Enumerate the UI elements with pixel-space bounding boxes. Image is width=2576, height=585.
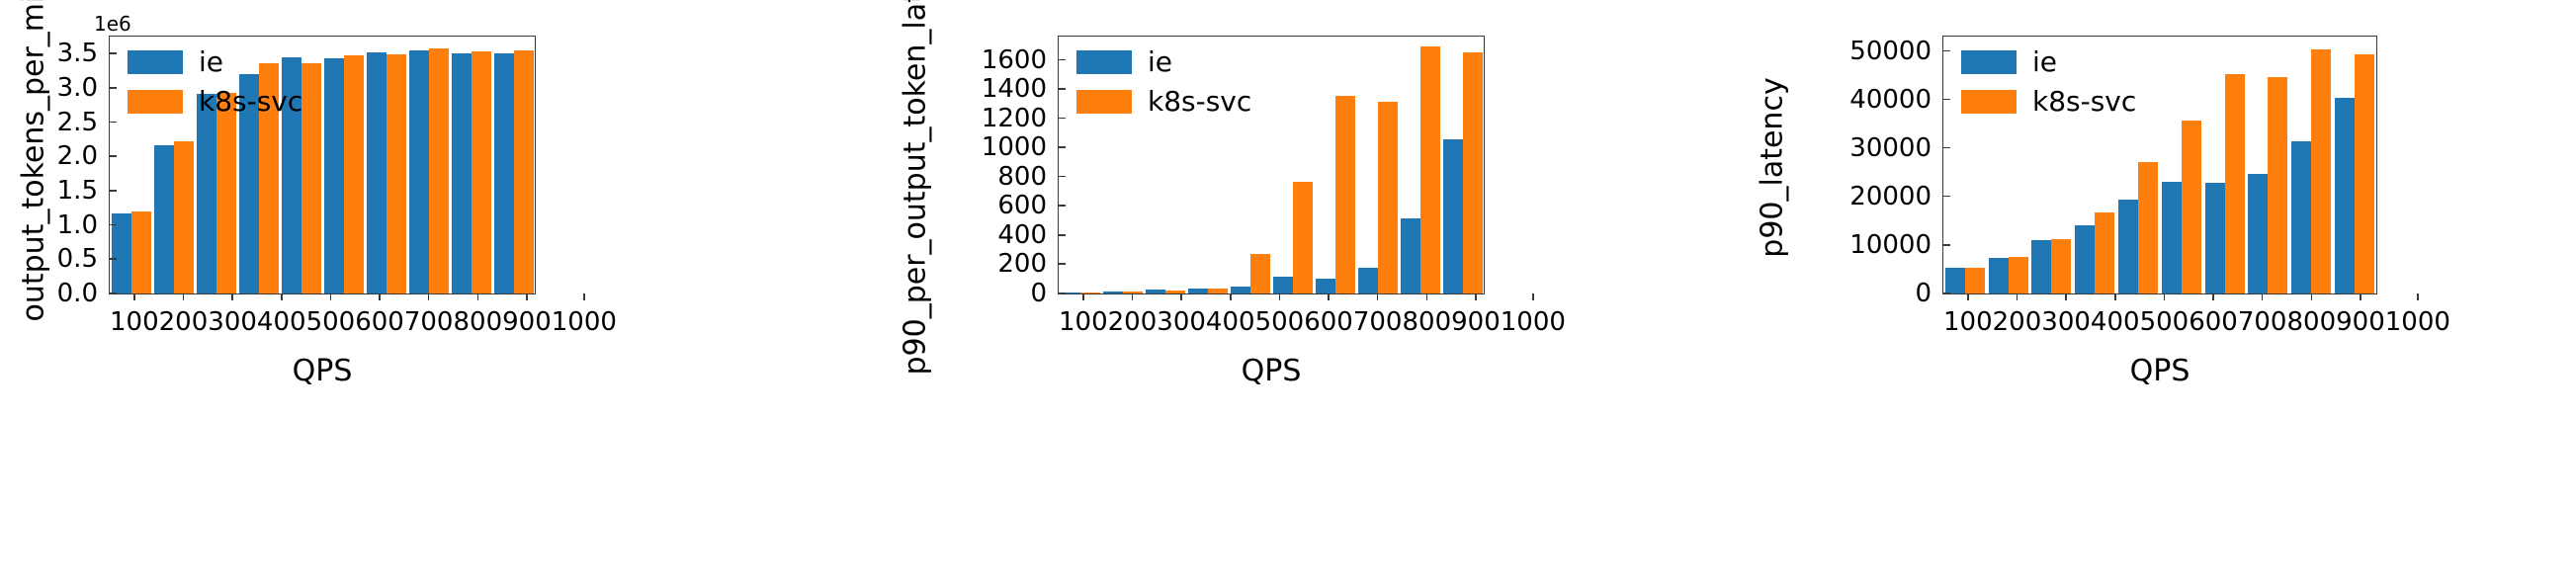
x-tick-label: 800: [1402, 293, 1451, 343]
bar-ie-500: [1231, 287, 1250, 293]
bar-group: [1314, 37, 1356, 293]
bar-k8s-svc-900: [2311, 49, 2331, 293]
y-tick-label: 0.0: [57, 281, 110, 306]
x-tick-mark: [183, 293, 185, 300]
bar-ie-800: [409, 50, 429, 293]
y-tick-mark: [110, 258, 117, 260]
legend-entry-ie: ie: [128, 48, 302, 76]
x-tick-label: 400: [1206, 293, 1255, 343]
y-tick-label: 3.5: [57, 41, 110, 66]
chart-panel-3: p90_latency 01000020000300004000050000 1…: [1700, 0, 2576, 585]
y-tick-label: 50000: [1849, 39, 1943, 64]
x-tick-mark: [1328, 293, 1330, 300]
y-tick-label: 1000: [982, 134, 1059, 160]
x-tick-label: 700: [1353, 293, 1403, 343]
y-tick-label: 1600: [982, 47, 1059, 73]
x-tick-label: 900: [2336, 293, 2385, 343]
x-ticks-2: 1002003004005006007008009001000: [1059, 293, 1484, 343]
bar-group: [2289, 37, 2333, 293]
bar-group: [492, 37, 535, 293]
legend-label-ie: ie: [2032, 48, 2057, 76]
y-tick-label: 1400: [982, 76, 1059, 102]
y-tick-mark: [1943, 244, 1950, 246]
x-tick-mark: [2164, 293, 2166, 300]
bar-k8s-svc-800: [1378, 102, 1398, 293]
bar-group: [2247, 37, 2290, 293]
x-tick-label: 100: [1059, 293, 1108, 343]
bar-k8s-svc-400: [2095, 212, 2114, 293]
y-tick-mark: [1059, 118, 1066, 120]
legend-entry-ie: ie: [1076, 48, 1251, 76]
x-tick-label: 600: [2189, 293, 2238, 343]
x-tick-label: 300: [2041, 293, 2091, 343]
bar-k8s-svc-500: [301, 63, 321, 293]
bar-group: [450, 37, 492, 293]
axes-1: 0.00.51.01.52.02.53.03.5 100200300400500…: [109, 36, 536, 294]
bar-k8s-svc-1000: [1463, 52, 1483, 293]
x-tick-label: 1000: [2385, 293, 2450, 343]
x-tick-label: 900: [1451, 293, 1501, 343]
x-tick-label: 500: [1255, 293, 1305, 343]
x-tick-mark: [1967, 293, 1969, 300]
legend-entry-k8s-svc: k8s-svc: [1961, 88, 2136, 116]
legend-label-k8s-svc: k8s-svc: [199, 88, 302, 116]
y-tick-label: 1.0: [57, 212, 110, 238]
x-tick-mark: [379, 293, 381, 300]
bar-ie-1000: [2335, 98, 2355, 293]
x-tick-mark: [2417, 293, 2419, 300]
bar-k8s-svc-600: [1293, 182, 1313, 293]
x-tick-mark: [2262, 293, 2264, 300]
x-tick-label: 400: [257, 293, 306, 343]
x-tick-label: 600: [355, 293, 404, 343]
y-tick-label: 200: [997, 251, 1059, 277]
x-tick-label: 800: [2286, 293, 2336, 343]
bar-k8s-svc-300: [2051, 239, 2071, 293]
x-tick-label: 500: [306, 293, 356, 343]
bar-ie-700: [2205, 183, 2225, 293]
bar-k8s-svc-900: [1420, 46, 1440, 293]
bar-k8s-svc-600: [2182, 121, 2201, 293]
y-axis-label-1: output_tokens_per_min: [17, 6, 51, 322]
bar-ie-600: [2162, 182, 2182, 293]
y-tick-mark: [110, 190, 117, 192]
x-tick-mark: [1279, 293, 1281, 300]
bar-k8s-svc-700: [1335, 96, 1355, 293]
x-tick-mark: [1532, 293, 1534, 300]
bar-group: [2160, 37, 2203, 293]
y-tick-mark: [1059, 234, 1066, 236]
y-tick-label: 30000: [1849, 135, 1943, 161]
y-tick-mark: [1059, 176, 1066, 178]
y-tick-mark: [1059, 59, 1066, 61]
legend-label-k8s-svc: k8s-svc: [2032, 88, 2136, 116]
bar-k8s-svc-800: [429, 48, 449, 293]
y-tick-mark: [1059, 88, 1066, 90]
x-tick-mark: [477, 293, 479, 300]
x-tick-mark: [1230, 293, 1232, 300]
bar-k8s-svc-500: [1250, 254, 1270, 293]
bar-ie-100: [1945, 268, 1965, 293]
bar-k8s-svc-100: [1965, 268, 1985, 293]
x-tick-label: 900: [502, 293, 552, 343]
x-tick-label: 300: [208, 293, 257, 343]
bar-group: [2203, 37, 2247, 293]
x-tick-label: 500: [2140, 293, 2190, 343]
bar-k8s-svc-700: [2225, 74, 2245, 293]
x-tick-label: 200: [159, 293, 209, 343]
bar-group: [2333, 37, 2376, 293]
y-tick-label: 2.5: [57, 110, 110, 135]
x-tick-mark: [1377, 293, 1379, 300]
bar-ie-700: [367, 52, 386, 293]
x-tick-mark: [1475, 293, 1477, 300]
x-tick-label: 100: [110, 293, 159, 343]
bar-k8s-svc-200: [2009, 257, 2028, 293]
x-tick-label: 200: [1993, 293, 2042, 343]
y-tick-mark: [1943, 196, 1950, 198]
y-tick-mark: [110, 87, 117, 89]
x-tick-mark: [2311, 293, 2313, 300]
x-tick-mark: [526, 293, 528, 300]
x-ticks-3: 1002003004005006007008009001000: [1943, 293, 2376, 343]
bar-group: [1399, 37, 1441, 293]
y-tick-mark: [110, 155, 117, 157]
y-tick-label: 10000: [1849, 232, 1943, 258]
x-tick-mark: [1426, 293, 1428, 300]
bar-k8s-svc-300: [216, 93, 236, 293]
y-tick-label: 0: [1030, 281, 1059, 306]
bar-ie-500: [2118, 200, 2138, 293]
x-tick-mark: [583, 293, 585, 300]
legend-swatch-k8s-svc-icon: [1076, 90, 1132, 114]
bar-ie-800: [2248, 174, 2268, 293]
legend-label-ie: ie: [1148, 48, 1172, 76]
y-axis-label-2: p90_per_output_token_latency: [899, 0, 933, 376]
x-tick-mark: [1082, 293, 1084, 300]
legend-swatch-ie-icon: [1961, 50, 2017, 74]
y-tick-label: 0.5: [57, 246, 110, 272]
legend-swatch-ie-icon: [128, 50, 183, 74]
x-tick-label: 700: [2238, 293, 2287, 343]
bar-ie-300: [197, 94, 216, 293]
legend-label-k8s-svc: k8s-svc: [1148, 88, 1251, 116]
bar-group: [407, 37, 450, 293]
legend-entry-k8s-svc: k8s-svc: [1076, 88, 1251, 116]
bar-k8s-svc-500: [2138, 162, 2158, 293]
legend-swatch-k8s-svc-icon: [128, 90, 183, 114]
bar-k8s-svc-600: [344, 55, 364, 293]
bar-ie-1000: [494, 53, 514, 293]
chart-panel-1: output_tokens_per_min 1e6 0.00.51.01.52.…: [0, 0, 850, 585]
bar-ie-400: [2075, 225, 2095, 293]
y-tick-label: 600: [997, 193, 1059, 218]
y-tick-label: 400: [997, 222, 1059, 248]
x-tick-label: 800: [453, 293, 502, 343]
bar-group: [1441, 37, 1484, 293]
legend-1: ie k8s-svc: [128, 48, 302, 116]
x-tick-label: 400: [2091, 293, 2140, 343]
x-ticks-1: 1002003004005006007008009001000: [110, 293, 535, 343]
y-tick-mark: [110, 122, 117, 124]
y-tick-label: 800: [997, 164, 1059, 190]
bar-group: [322, 37, 365, 293]
bar-group: [365, 37, 407, 293]
x-axis-label-2: QPS: [1058, 354, 1485, 388]
bar-k8s-svc-100: [131, 211, 151, 293]
x-tick-label: 300: [1157, 293, 1206, 343]
y-tick-label: 1.5: [57, 178, 110, 204]
y-tick-label: 0: [1915, 281, 1943, 306]
bar-group: [1271, 37, 1314, 293]
bar-k8s-svc-1000: [514, 50, 534, 293]
bar-k8s-svc-800: [2268, 77, 2287, 293]
legend-swatch-ie-icon: [1076, 50, 1132, 74]
y-axis-offset-text-1: 1e6: [94, 12, 131, 36]
bar-k8s-svc-900: [472, 51, 491, 293]
x-tick-mark: [133, 293, 135, 300]
legend-3: ie k8s-svc: [1961, 48, 2136, 116]
bar-ie-200: [1989, 258, 2009, 293]
bar-ie-900: [2291, 141, 2311, 293]
y-tick-label: 1200: [982, 106, 1059, 131]
y-tick-mark: [1943, 99, 1950, 101]
legend-swatch-k8s-svc-icon: [1961, 90, 2017, 114]
bar-ie-900: [452, 53, 472, 293]
legend-label-ie: ie: [199, 48, 223, 76]
y-tick-label: 2.0: [57, 143, 110, 169]
y-tick-mark: [1943, 147, 1950, 149]
x-tick-mark: [2017, 293, 2018, 300]
bar-ie-700: [1316, 279, 1335, 294]
bar-ie-900: [1401, 218, 1420, 293]
legend-entry-ie: ie: [1961, 48, 2136, 76]
legend-2: ie k8s-svc: [1076, 48, 1251, 116]
axes-3: 01000020000300004000050000 1002003004005…: [1942, 36, 2377, 294]
bar-k8s-svc-700: [386, 54, 406, 293]
bar-ie-600: [324, 58, 344, 293]
bar-ie-300: [2031, 240, 2051, 293]
bar-k8s-svc-1000: [2355, 54, 2374, 293]
x-tick-label: 200: [1108, 293, 1158, 343]
x-tick-mark: [2212, 293, 2214, 300]
x-tick-mark: [1132, 293, 1134, 300]
x-tick-label: 600: [1304, 293, 1353, 343]
y-tick-mark: [110, 224, 117, 226]
y-axis-label-3: p90_latency: [1756, 20, 1790, 316]
x-tick-mark: [2114, 293, 2116, 300]
x-tick-mark: [428, 293, 430, 300]
x-axis-label-1: QPS: [109, 354, 536, 388]
y-tick-label: 40000: [1849, 87, 1943, 113]
legend-entry-k8s-svc: k8s-svc: [128, 88, 302, 116]
bar-ie-200: [154, 145, 174, 293]
bar-ie-1000: [1443, 139, 1463, 293]
y-tick-mark: [1059, 205, 1066, 207]
figure: output_tokens_per_min 1e6 0.00.51.01.52.…: [0, 0, 2576, 585]
bar-k8s-svc-200: [174, 141, 194, 293]
y-tick-mark: [1943, 50, 1950, 52]
x-tick-mark: [281, 293, 283, 300]
x-tick-label: 700: [404, 293, 454, 343]
x-tick-mark: [231, 293, 233, 300]
x-tick-label: 100: [1943, 293, 1993, 343]
x-tick-mark: [2360, 293, 2361, 300]
y-tick-label: 20000: [1849, 184, 1943, 209]
y-tick-mark: [1059, 146, 1066, 148]
axes-2: 02004006008001000120014001600 1002003004…: [1058, 36, 1485, 294]
y-tick-mark: [1059, 263, 1066, 265]
y-tick-mark: [110, 52, 117, 54]
y-tick-label: 3.0: [57, 75, 110, 101]
bar-ie-800: [1358, 268, 1378, 293]
bar-group: [1356, 37, 1399, 293]
x-axis-label-3: QPS: [1942, 354, 2377, 388]
chart-panel-2: p90_per_output_token_latency 02004006008…: [850, 0, 1700, 585]
x-tick-mark: [330, 293, 332, 300]
x-tick-mark: [1180, 293, 1182, 300]
bar-ie-600: [1273, 277, 1293, 293]
x-tick-label: 1000: [552, 293, 617, 343]
x-tick-label: 1000: [1501, 293, 1566, 343]
x-tick-mark: [2065, 293, 2067, 300]
